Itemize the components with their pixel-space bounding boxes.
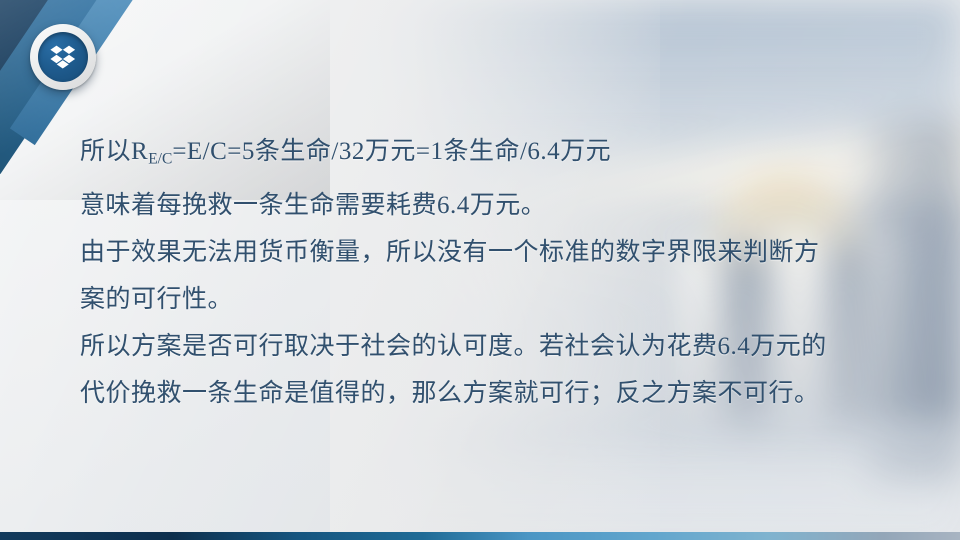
text-line-5: 所以方案是否可行取决于社会的认可度。若社会认为花费6.4万元的 <box>80 323 910 370</box>
dropbox-logo-badge <box>30 24 96 90</box>
text-line-1: 所以RE/C=E/C=5条生命/32万元=1条生命/6.4万元 <box>80 128 910 182</box>
presentation-slide: 所以RE/C=E/C=5条生命/32万元=1条生命/6.4万元 意味着每挽救一条… <box>0 0 960 540</box>
dropbox-icon <box>50 45 76 69</box>
text-line-2: 意味着每挽救一条生命需要耗费6.4万元。 <box>80 182 910 229</box>
subscript-line-1: E/C <box>148 150 172 167</box>
slide-body-text: 所以RE/C=E/C=5条生命/32万元=1条生命/6.4万元 意味着每挽救一条… <box>80 128 910 417</box>
text-line-4: 案的可行性。 <box>80 276 910 323</box>
dropbox-logo-disc <box>38 32 88 82</box>
bottom-accent-bar <box>0 532 960 540</box>
text-line-6: 代价挽救一条生命是值得的，那么方案就可行；反之方案不可行。 <box>80 370 910 417</box>
text-line-3: 由于效果无法用货币衡量，所以没有一个标准的数字界限来判断方 <box>80 229 910 276</box>
